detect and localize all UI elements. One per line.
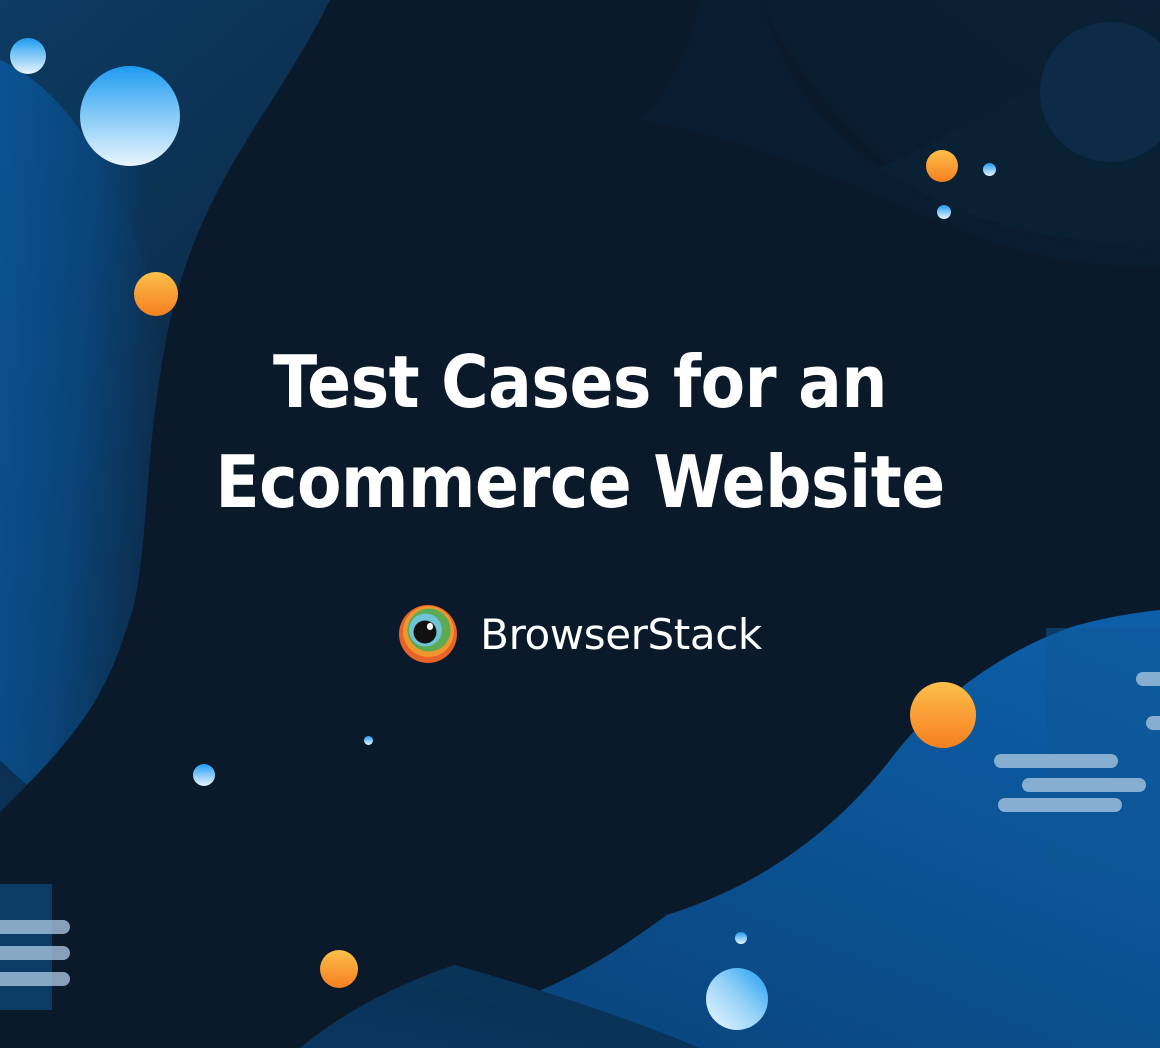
bar-bottom-right-4 bbox=[1022, 778, 1146, 792]
bar-bottom-left-3 bbox=[0, 972, 70, 986]
brand-name: BrowserStack bbox=[480, 610, 762, 659]
circle-bottom-right-big bbox=[910, 682, 976, 748]
circle-top-right-orange bbox=[926, 150, 958, 182]
bar-bottom-left-1 bbox=[0, 920, 70, 934]
bar-bottom-right-3 bbox=[994, 754, 1118, 768]
page-title: Test Cases for an Ecommerce Website bbox=[0, 332, 1160, 532]
bar-bottom-left-2 bbox=[0, 946, 70, 960]
circle-left-dot bbox=[193, 764, 215, 786]
circle-top-left-small bbox=[10, 38, 46, 74]
brand-logo-lockup: BrowserStack bbox=[0, 604, 1160, 664]
bar-bottom-right-2 bbox=[1146, 716, 1160, 730]
slide-canvas: Test Cases for an Ecommerce Website Brow… bbox=[0, 0, 1160, 1048]
circle-bottom-blue-big bbox=[706, 968, 768, 1030]
circle-top-right-dot bbox=[983, 163, 996, 176]
circle-bottom-orange bbox=[320, 950, 358, 988]
circle-top-right-dot-2 bbox=[937, 205, 951, 219]
circle-center-dot bbox=[364, 736, 373, 745]
circle-top-left-large bbox=[80, 66, 180, 166]
circle-left-orange bbox=[134, 272, 178, 316]
bar-bottom-right-5 bbox=[998, 798, 1122, 812]
browserstack-eye-logo-icon bbox=[398, 604, 458, 664]
circle-bottom-dot bbox=[735, 932, 747, 944]
panel-bottom-right bbox=[1046, 628, 1160, 872]
bar-bottom-right-1 bbox=[1136, 672, 1160, 686]
